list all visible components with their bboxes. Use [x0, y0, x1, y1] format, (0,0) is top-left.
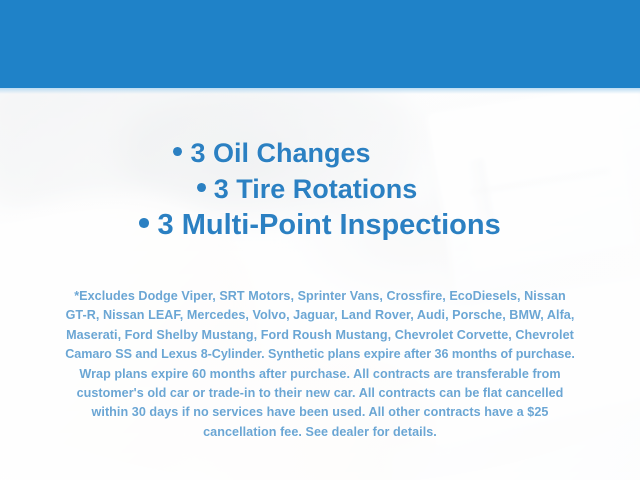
- extracare-package-ad: ExtraCare Package* 3 Oil Changes 3 Tire …: [0, 0, 640, 480]
- header-banner: [0, 0, 640, 88]
- list-item: 3 Multi-Point Inspections: [0, 211, 640, 241]
- disclaimer-line: Maserati, Ford Shelby Mustang, Ford Rous…: [26, 326, 614, 345]
- benefit-label: 3 Tire Rotations: [214, 174, 418, 204]
- benefit-label: 3 Oil Changes: [190, 138, 370, 168]
- header-banner-edge: [0, 88, 640, 94]
- disclaimer-line: within 30 days if no services have been …: [26, 403, 614, 422]
- list-item: 3 Tire Rotations: [0, 176, 640, 204]
- bullet-dot-icon: [197, 183, 206, 192]
- list-item: 3 Oil Changes: [0, 140, 640, 168]
- bullet-dot-icon: [173, 147, 182, 156]
- disclaimer-line: GT-R, Nissan LEAF, Mercedes, Volvo, Jagu…: [26, 306, 614, 325]
- disclaimer-line: customer's old car or trade-in to their …: [26, 384, 614, 403]
- benefit-label: 3 Multi-Point Inspections: [158, 209, 501, 241]
- disclaimer-line: Wrap plans expire 60 months after purcha…: [26, 365, 614, 384]
- benefits-list: 3 Oil Changes 3 Tire Rotations 3 Multi-P…: [0, 140, 640, 249]
- disclaimer-text: *Excludes Dodge Viper, SRT Motors, Sprin…: [26, 287, 614, 442]
- disclaimer-line: Camaro SS and Lexus 8-Cylinder. Syntheti…: [26, 345, 614, 364]
- disclaimer-line: cancellation fee. See dealer for details…: [26, 423, 614, 442]
- bullet-dot-icon: [139, 218, 149, 228]
- disclaimer-line: *Excludes Dodge Viper, SRT Motors, Sprin…: [26, 287, 614, 306]
